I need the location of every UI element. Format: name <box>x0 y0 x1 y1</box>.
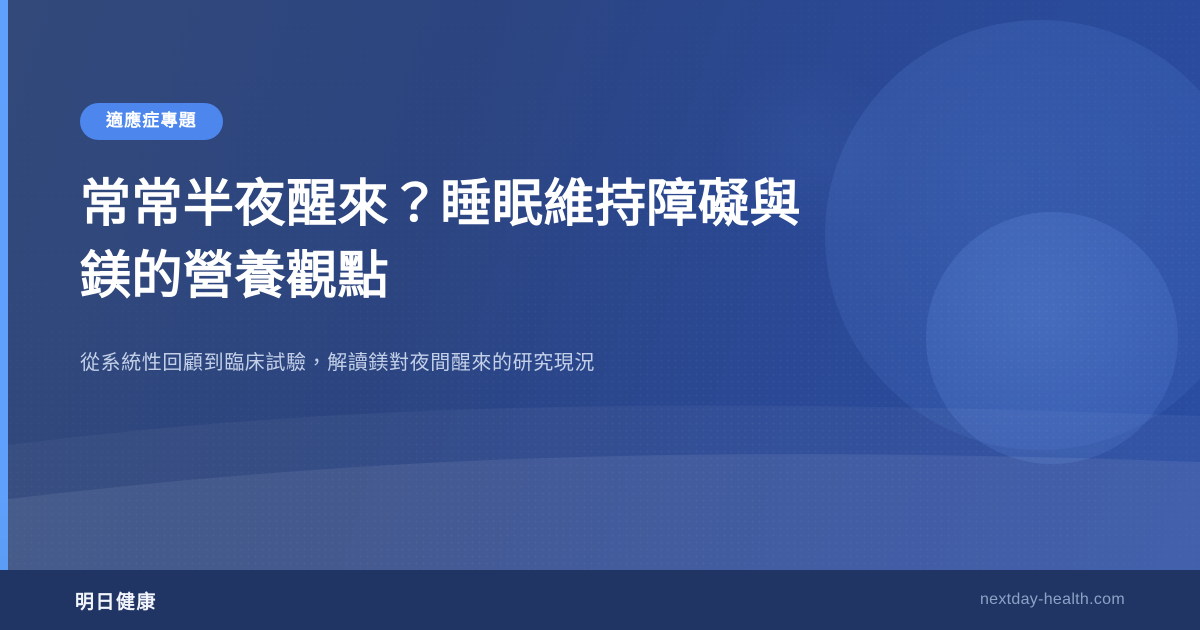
wave-decoration <box>0 350 1200 570</box>
card-footer: 明日健康 nextday-health.com <box>0 570 1200 630</box>
share-card: 適應症專題 常常半夜醒來？睡眠維持障礙與 鎂的營養觀點 從系統性回顧到臨床試驗，… <box>0 0 1200 630</box>
title-line-2: 鎂的營養觀點 <box>80 247 389 304</box>
card-content: 適應症專題 常常半夜醒來？睡眠維持障礙與 鎂的營養觀點 從系統性回顧到臨床試驗，… <box>80 0 980 379</box>
page-subtitle: 從系統性回顧到臨床試驗，解讀鎂對夜間醒來的研究現況 <box>80 347 980 379</box>
footer-brand: 明日健康 <box>75 587 157 614</box>
footer-url: nextday-health.com <box>980 591 1125 609</box>
page-title: 常常半夜醒來？睡眠維持障礙與 鎂的營養觀點 <box>80 168 910 313</box>
category-badge: 適應症專題 <box>80 103 223 140</box>
left-accent-strip <box>0 0 8 570</box>
title-line-1: 常常半夜醒來？睡眠維持障礙與 <box>80 175 801 232</box>
